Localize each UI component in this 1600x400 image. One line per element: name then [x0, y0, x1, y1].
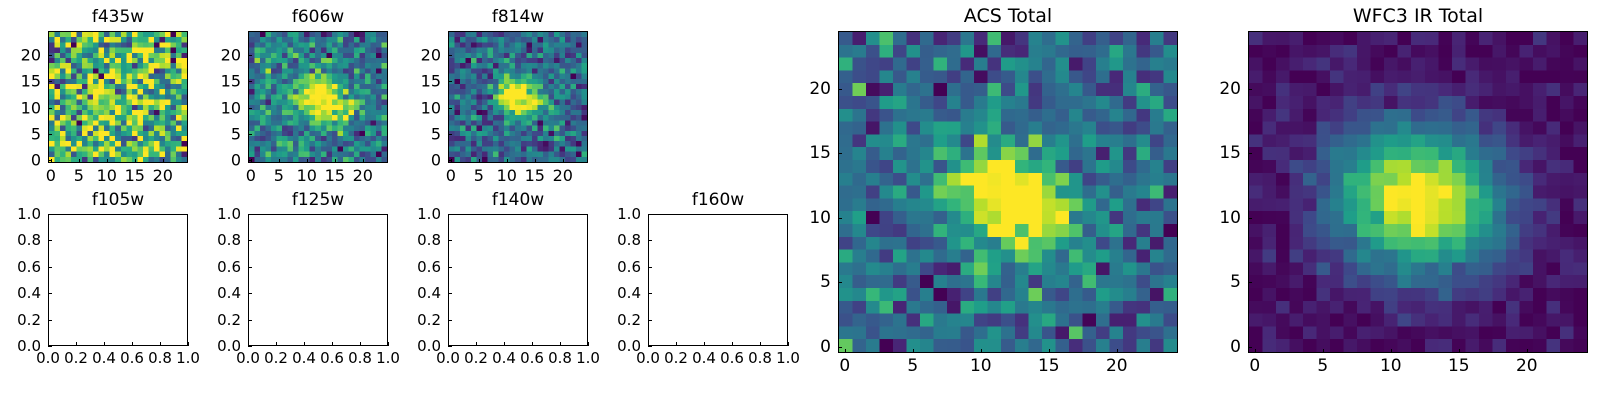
- yticklabel-wfc3-ir-total-4: 20: [1219, 79, 1241, 99]
- xtick-f160w-3: [732, 342, 733, 346]
- xtick-f160w-4: [760, 342, 761, 346]
- xticklabel-f160w-1: 0.2: [664, 349, 688, 367]
- ytick-f140w-0: [448, 346, 452, 347]
- xtick-f125w-4: [360, 342, 361, 346]
- xtick-f606w-4: [363, 159, 364, 163]
- xtick-f160w-5: [788, 342, 789, 346]
- panel-wfc3-ir-total: WFC3 IR Total0510152005101520: [1248, 31, 1588, 353]
- xtick-acs-total-0: [845, 349, 846, 353]
- yticklabel-f140w-5: 1.0: [417, 205, 441, 223]
- ytick-f140w-2: [448, 293, 452, 294]
- yticklabel-f606w-0: 0: [231, 151, 241, 170]
- xticklabel-wfc3-ir-total-4: 20: [1516, 356, 1538, 376]
- ytick-f606w-2: [248, 108, 252, 109]
- yticklabel-f105w-2: 0.4: [17, 284, 41, 302]
- xtick-f125w-1: [276, 342, 277, 346]
- yticklabel-f160w-4: 0.8: [617, 231, 641, 249]
- panel-f125w: f125w0.00.20.40.60.81.00.00.20.40.60.81.…: [248, 214, 388, 346]
- xticklabel-f125w-1: 0.2: [264, 349, 288, 367]
- panel-title-f435w: f435w: [48, 7, 188, 27]
- plot-area-f125w: [248, 214, 388, 346]
- yticklabel-f140w-3: 0.6: [417, 258, 441, 276]
- panel-title-f125w: f125w: [248, 190, 388, 210]
- plot-area-acs-total: [838, 31, 1178, 353]
- xtick-f125w-2: [304, 342, 305, 346]
- ytick-acs-total-1: [838, 282, 842, 283]
- ytick-f125w-3: [248, 267, 252, 268]
- plot-area-f160w: [648, 214, 788, 346]
- yticklabel-f814w-1: 5: [431, 124, 441, 143]
- yticklabel-f125w-3: 0.6: [217, 258, 241, 276]
- plot-area-wfc3-ir-total: [1248, 31, 1588, 353]
- ytick-acs-total-4: [838, 89, 842, 90]
- ytick-acs-total-3: [838, 153, 842, 154]
- panel-f140w: f140w0.00.20.40.60.81.00.00.20.40.60.81.…: [448, 214, 588, 346]
- xtick-f105w-5: [188, 342, 189, 346]
- ytick-f606w-0: [248, 160, 252, 161]
- ytick-f160w-3: [648, 267, 652, 268]
- ytick-f160w-5: [648, 214, 652, 215]
- yticklabel-f435w-2: 10: [21, 98, 41, 117]
- xticklabel-f125w-3: 0.6: [320, 349, 344, 367]
- heatmap-f814w: [449, 32, 587, 162]
- ytick-f814w-0: [448, 160, 452, 161]
- xticklabel-acs-total-4: 20: [1106, 356, 1128, 376]
- yticklabel-f160w-5: 1.0: [617, 205, 641, 223]
- ytick-f814w-2: [448, 108, 452, 109]
- yticklabel-acs-total-1: 5: [820, 272, 831, 292]
- xticklabel-f125w-4: 0.8: [348, 349, 372, 367]
- xticklabel-f814w-3: 15: [525, 166, 545, 185]
- ytick-f140w-1: [448, 320, 452, 321]
- yticklabel-f140w-0: 0.0: [417, 337, 441, 355]
- xticklabel-wfc3-ir-total-3: 15: [1448, 356, 1470, 376]
- panel-title-f140w: f140w: [448, 190, 588, 210]
- panel-title-f814w: f814w: [448, 7, 588, 27]
- yticklabel-f435w-4: 20: [21, 45, 41, 64]
- xtick-acs-total-2: [981, 349, 982, 353]
- yticklabel-f435w-0: 0: [31, 151, 41, 170]
- ytick-f105w-3: [48, 267, 52, 268]
- xtick-f606w-1: [279, 159, 280, 163]
- yticklabel-wfc3-ir-total-1: 5: [1230, 272, 1241, 292]
- xtick-f140w-3: [532, 342, 533, 346]
- ytick-f435w-1: [48, 134, 52, 135]
- heatmap-f606w: [249, 32, 387, 162]
- xticklabel-f814w-4: 20: [553, 166, 573, 185]
- ytick-f606w-3: [248, 81, 252, 82]
- yticklabel-f435w-3: 15: [21, 72, 41, 91]
- xticklabel-f105w-3: 0.6: [120, 349, 144, 367]
- panel-f435w: f435w0510152005101520: [48, 31, 188, 163]
- plot-area-f435w: [48, 31, 188, 163]
- xticklabel-f140w-4: 0.8: [548, 349, 572, 367]
- ytick-wfc3-ir-total-2: [1248, 218, 1252, 219]
- xticklabel-f160w-5: 1.0: [776, 349, 800, 367]
- panel-title-acs-total: ACS Total: [838, 5, 1178, 27]
- xticklabel-f435w-2: 10: [97, 166, 117, 185]
- xticklabel-acs-total-2: 10: [970, 356, 992, 376]
- xtick-f160w-1: [676, 342, 677, 346]
- yticklabel-f814w-2: 10: [421, 98, 441, 117]
- ytick-f140w-5: [448, 214, 452, 215]
- yticklabel-f125w-2: 0.4: [217, 284, 241, 302]
- plot-area-f814w: [448, 31, 588, 163]
- xtick-f105w-4: [160, 342, 161, 346]
- yticklabel-f125w-0: 0.0: [217, 337, 241, 355]
- xtick-wfc3-ir-total-3: [1459, 349, 1460, 353]
- xtick-wfc3-ir-total-2: [1391, 349, 1392, 353]
- ytick-f160w-4: [648, 240, 652, 241]
- xticklabel-f606w-1: 5: [274, 166, 284, 185]
- xtick-f606w-2: [307, 159, 308, 163]
- xtick-f814w-4: [563, 159, 564, 163]
- yticklabel-f606w-4: 20: [221, 45, 241, 64]
- ytick-f435w-2: [48, 108, 52, 109]
- ytick-wfc3-ir-total-0: [1248, 347, 1252, 348]
- xtick-f140w-4: [560, 342, 561, 346]
- xtick-f125w-5: [388, 342, 389, 346]
- xtick-acs-total-3: [1049, 349, 1050, 353]
- xticklabel-f814w-0: 0: [446, 166, 456, 185]
- plot-area-f606w: [248, 31, 388, 163]
- yticklabel-f105w-1: 0.2: [17, 311, 41, 329]
- ytick-f105w-0: [48, 346, 52, 347]
- ytick-f125w-1: [248, 320, 252, 321]
- ytick-wfc3-ir-total-1: [1248, 282, 1252, 283]
- ytick-f105w-1: [48, 320, 52, 321]
- ytick-wfc3-ir-total-4: [1248, 89, 1252, 90]
- xtick-acs-total-1: [913, 349, 914, 353]
- xtick-f435w-4: [163, 159, 164, 163]
- xtick-f435w-3: [135, 159, 136, 163]
- xticklabel-acs-total-3: 15: [1038, 356, 1060, 376]
- ytick-f125w-2: [248, 293, 252, 294]
- panel-title-f105w: f105w: [48, 190, 188, 210]
- xticklabel-acs-total-0: 0: [839, 356, 850, 376]
- panel-f814w: f814w0510152005101520: [448, 31, 588, 163]
- ytick-f125w-4: [248, 240, 252, 241]
- xtick-f105w-1: [76, 342, 77, 346]
- yticklabel-wfc3-ir-total-3: 15: [1219, 143, 1241, 163]
- ytick-f606w-4: [248, 55, 252, 56]
- ytick-f125w-5: [248, 214, 252, 215]
- yticklabel-f125w-5: 1.0: [217, 205, 241, 223]
- heatmap-f435w: [49, 32, 187, 162]
- xticklabel-f105w-4: 0.8: [148, 349, 172, 367]
- xticklabel-f435w-4: 20: [153, 166, 173, 185]
- ytick-f105w-4: [48, 240, 52, 241]
- ytick-f814w-1: [448, 134, 452, 135]
- yticklabel-f125w-4: 0.8: [217, 231, 241, 249]
- ytick-acs-total-0: [838, 347, 842, 348]
- xticklabel-f606w-3: 15: [325, 166, 345, 185]
- xticklabel-f814w-2: 10: [497, 166, 517, 185]
- ytick-f435w-4: [48, 55, 52, 56]
- yticklabel-acs-total-2: 10: [809, 208, 831, 228]
- yticklabel-f105w-0: 0.0: [17, 337, 41, 355]
- xtick-wfc3-ir-total-0: [1255, 349, 1256, 353]
- heatmap-wfc3-ir-total: [1249, 32, 1587, 352]
- yticklabel-f105w-5: 1.0: [17, 205, 41, 223]
- yticklabel-f606w-1: 5: [231, 124, 241, 143]
- ytick-f160w-1: [648, 320, 652, 321]
- xtick-f814w-1: [479, 159, 480, 163]
- yticklabel-f814w-4: 20: [421, 45, 441, 64]
- xticklabel-f435w-0: 0: [46, 166, 56, 185]
- yticklabel-f160w-1: 0.2: [617, 311, 641, 329]
- xticklabel-f125w-2: 0.4: [292, 349, 316, 367]
- xtick-f435w-2: [107, 159, 108, 163]
- yticklabel-f160w-3: 0.6: [617, 258, 641, 276]
- xtick-f140w-1: [476, 342, 477, 346]
- yticklabel-f140w-1: 0.2: [417, 311, 441, 329]
- xticklabel-wfc3-ir-total-0: 0: [1249, 356, 1260, 376]
- heatmap-acs-total: [839, 32, 1177, 352]
- yticklabel-f105w-3: 0.6: [17, 258, 41, 276]
- xtick-f105w-3: [132, 342, 133, 346]
- ytick-f140w-4: [448, 240, 452, 241]
- panel-f160w: f160w0.00.20.40.60.81.00.00.20.40.60.81.…: [648, 214, 788, 346]
- ytick-f606w-1: [248, 134, 252, 135]
- yticklabel-f125w-1: 0.2: [217, 311, 241, 329]
- xticklabel-wfc3-ir-total-2: 10: [1380, 356, 1402, 376]
- yticklabel-f814w-0: 0: [431, 151, 441, 170]
- xtick-f105w-2: [104, 342, 105, 346]
- xticklabel-f140w-2: 0.4: [492, 349, 516, 367]
- xtick-f125w-3: [332, 342, 333, 346]
- ytick-f435w-3: [48, 81, 52, 82]
- xtick-f814w-2: [507, 159, 508, 163]
- ytick-f125w-0: [248, 346, 252, 347]
- panel-title-f606w: f606w: [248, 7, 388, 27]
- yticklabel-f105w-4: 0.8: [17, 231, 41, 249]
- ytick-f814w-3: [448, 81, 452, 82]
- xticklabel-f606w-0: 0: [246, 166, 256, 185]
- ytick-f160w-2: [648, 293, 652, 294]
- xticklabel-f814w-1: 5: [474, 166, 484, 185]
- xticklabel-f140w-1: 0.2: [464, 349, 488, 367]
- yticklabel-f140w-2: 0.4: [417, 284, 441, 302]
- panel-title-f160w: f160w: [648, 190, 788, 210]
- xticklabel-f105w-1: 0.2: [64, 349, 88, 367]
- xtick-f160w-2: [704, 342, 705, 346]
- xtick-wfc3-ir-total-1: [1323, 349, 1324, 353]
- ytick-f105w-5: [48, 214, 52, 215]
- ytick-f435w-0: [48, 160, 52, 161]
- xticklabel-f606w-4: 20: [353, 166, 373, 185]
- figure-canvas: f435w0510152005101520f606w05101520051015…: [0, 0, 1600, 400]
- ytick-wfc3-ir-total-3: [1248, 153, 1252, 154]
- xticklabel-f125w-5: 1.0: [376, 349, 400, 367]
- xticklabel-f140w-5: 1.0: [576, 349, 600, 367]
- xticklabel-f105w-2: 0.4: [92, 349, 116, 367]
- panel-f606w: f606w0510152005101520: [248, 31, 388, 163]
- yticklabel-f140w-4: 0.8: [417, 231, 441, 249]
- xtick-f606w-3: [335, 159, 336, 163]
- yticklabel-acs-total-0: 0: [820, 337, 831, 357]
- yticklabel-f160w-0: 0.0: [617, 337, 641, 355]
- xticklabel-f140w-3: 0.6: [520, 349, 544, 367]
- yticklabel-f814w-3: 15: [421, 72, 441, 91]
- xtick-acs-total-4: [1117, 349, 1118, 353]
- xtick-wfc3-ir-total-4: [1527, 349, 1528, 353]
- yticklabel-f606w-3: 15: [221, 72, 241, 91]
- xtick-f140w-5: [588, 342, 589, 346]
- panel-title-wfc3-ir-total: WFC3 IR Total: [1248, 5, 1588, 27]
- yticklabel-f160w-2: 0.4: [617, 284, 641, 302]
- yticklabel-f435w-1: 5: [31, 124, 41, 143]
- yticklabel-acs-total-3: 15: [809, 143, 831, 163]
- plot-area-f140w: [448, 214, 588, 346]
- xticklabel-f160w-2: 0.4: [692, 349, 716, 367]
- yticklabel-wfc3-ir-total-0: 0: [1230, 337, 1241, 357]
- panel-acs-total: ACS Total0510152005101520: [838, 31, 1178, 353]
- yticklabel-f606w-2: 10: [221, 98, 241, 117]
- xticklabel-wfc3-ir-total-1: 5: [1317, 356, 1328, 376]
- xticklabel-f105w-5: 1.0: [176, 349, 200, 367]
- xtick-f814w-3: [535, 159, 536, 163]
- xtick-f435w-1: [79, 159, 80, 163]
- ytick-f140w-3: [448, 267, 452, 268]
- ytick-f814w-4: [448, 55, 452, 56]
- xticklabel-f606w-2: 10: [297, 166, 317, 185]
- yticklabel-acs-total-4: 20: [809, 79, 831, 99]
- plot-area-f105w: [48, 214, 188, 346]
- ytick-f105w-2: [48, 293, 52, 294]
- xtick-f140w-2: [504, 342, 505, 346]
- ytick-acs-total-2: [838, 218, 842, 219]
- yticklabel-wfc3-ir-total-2: 10: [1219, 208, 1241, 228]
- xticklabel-f160w-4: 0.8: [748, 349, 772, 367]
- xticklabel-f435w-1: 5: [74, 166, 84, 185]
- xticklabel-f160w-3: 0.6: [720, 349, 744, 367]
- xticklabel-f435w-3: 15: [125, 166, 145, 185]
- xticklabel-acs-total-1: 5: [907, 356, 918, 376]
- ytick-f160w-0: [648, 346, 652, 347]
- panel-f105w: f105w0.00.20.40.60.81.00.00.20.40.60.81.…: [48, 214, 188, 346]
